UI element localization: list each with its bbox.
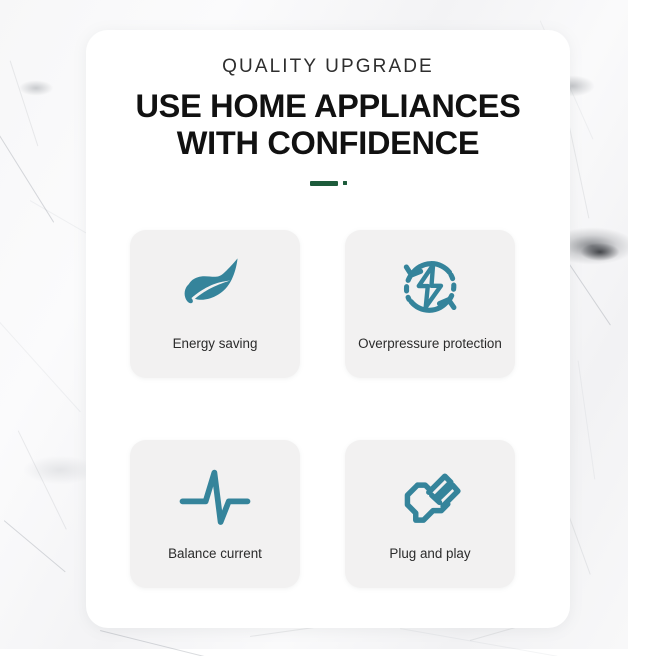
headline-line-1: USE HOME APPLIANCES: [136, 88, 521, 124]
headline-line-2: WITH CONFIDENCE: [86, 125, 570, 162]
eyebrow-text: QUALITY UPGRADE: [86, 56, 570, 78]
feature-tile-overpressure-protection[interactable]: Overpressure protection: [345, 230, 515, 378]
dash-dot-divider-icon: [86, 178, 570, 188]
feature-tile-energy-saving[interactable]: Energy saving: [130, 230, 300, 378]
feature-label: Plug and play: [339, 546, 521, 561]
power-plug-icon: [345, 454, 515, 540]
lightning-bolt-in-circular-arrows-icon: [345, 244, 515, 330]
leaf-icon: [130, 244, 300, 330]
feature-label: Balance current: [124, 546, 306, 561]
waveform-pulse-icon: [130, 454, 300, 540]
feature-tile-balance-current[interactable]: Balance current: [130, 440, 300, 588]
divider-dot: [343, 181, 347, 185]
divider-bar: [310, 181, 338, 186]
promo-banner: QUALITY UPGRADE USE HOME APPLIANCES WITH…: [0, 0, 656, 656]
feature-tile-plug-and-play[interactable]: Plug and play: [345, 440, 515, 588]
feature-label: Overpressure protection: [339, 336, 521, 351]
feature-grid: Energy saving: [130, 230, 526, 588]
feature-label: Energy saving: [124, 336, 306, 351]
content-card: QUALITY UPGRADE USE HOME APPLIANCES WITH…: [86, 30, 570, 628]
page-title: USE HOME APPLIANCES WITH CONFIDENCE: [86, 88, 570, 161]
